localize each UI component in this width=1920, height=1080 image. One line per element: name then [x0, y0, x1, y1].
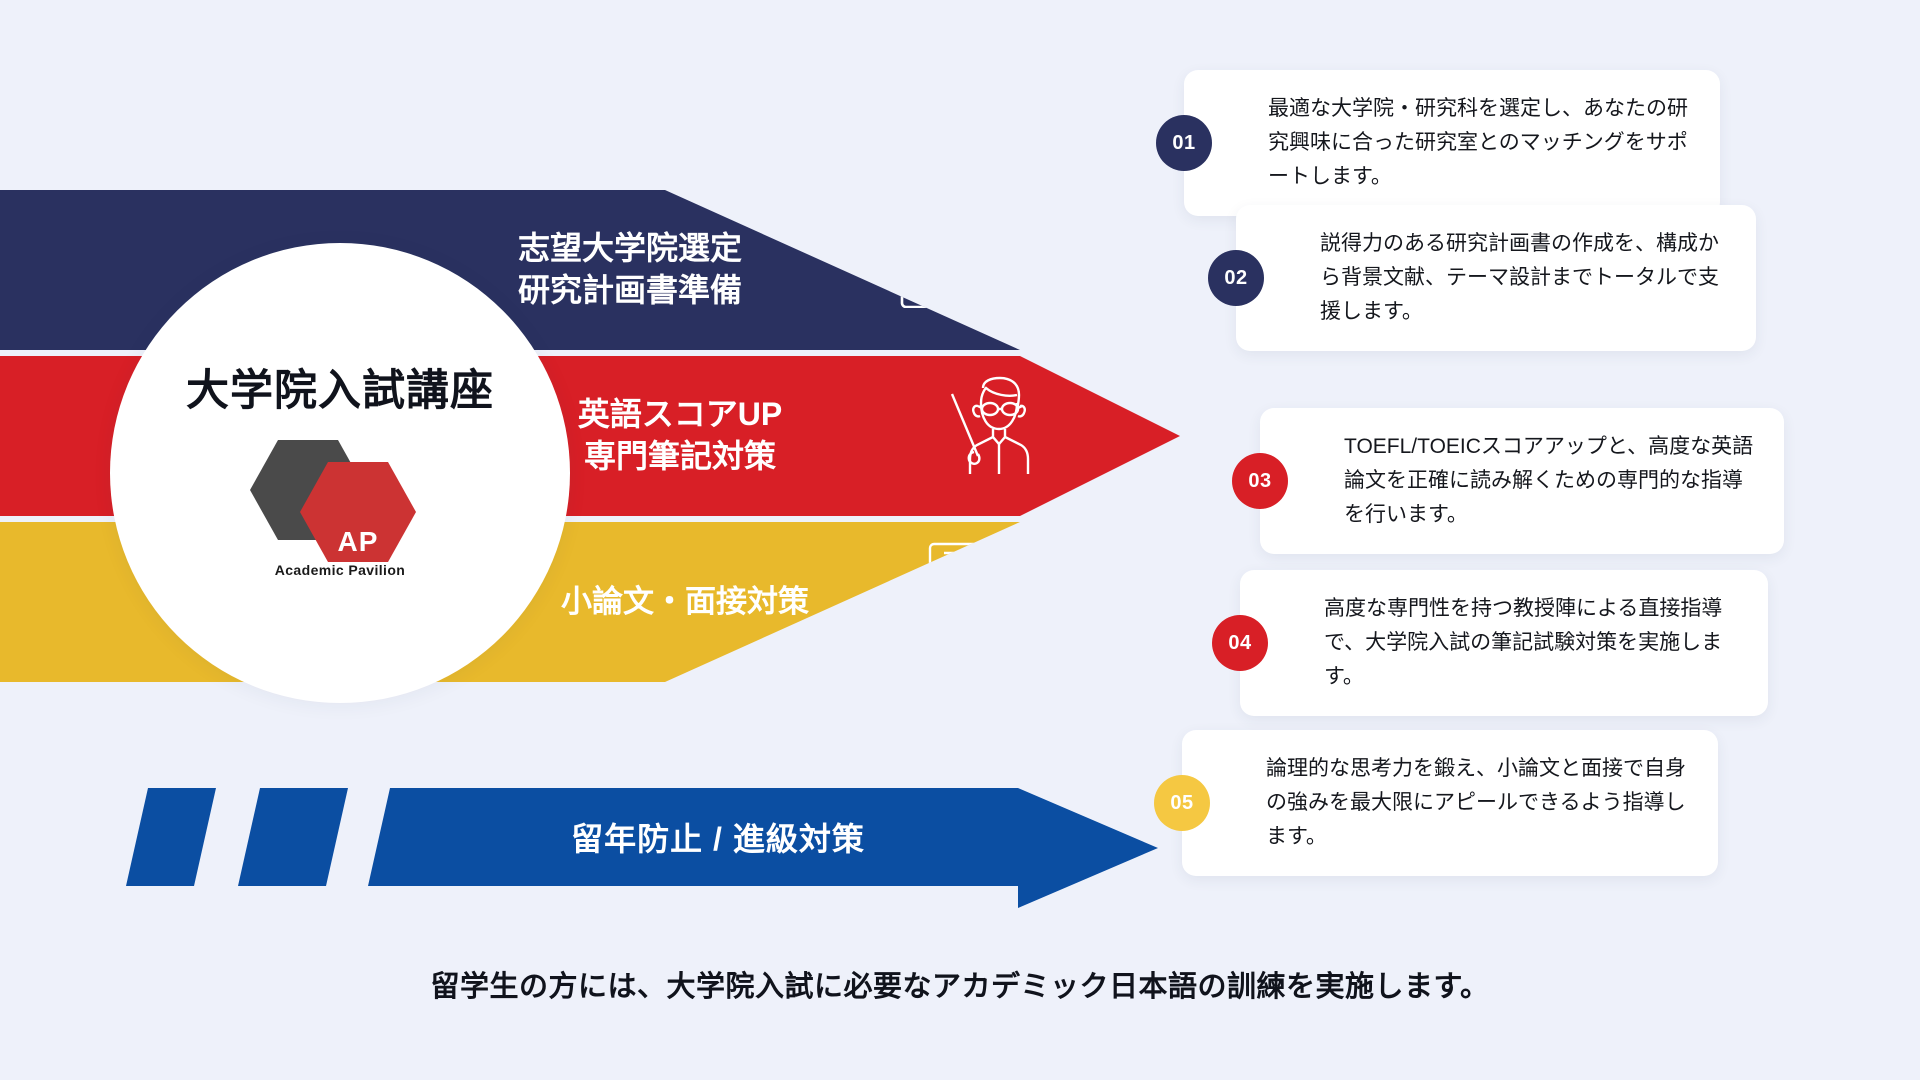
step-badge-02: 02 [1208, 250, 1264, 306]
course-logo-circle: 大学院入試講座 AP Academic Pavilion [110, 243, 570, 703]
step-badge-01: 01 [1156, 115, 1212, 171]
step-text-02: 説得力のある研究計画書の作成を、構成から背景文献、テーマ設計までトータルで支援し… [1236, 205, 1756, 351]
chevron-segment-1 [126, 788, 216, 886]
step-text-03: TOEFL/TOEICスコアアップと、高度な英語論文を正確に読み解くための専門的… [1260, 408, 1784, 554]
band-label-1: 志望大学院選定 研究計画書準備 [460, 228, 800, 311]
logo-subtitle: Academic Pavilion [275, 562, 406, 578]
academic-pavilion-logo: AP [235, 438, 445, 558]
step-card-05[interactable]: 05 論理的な思考力を鍛え、小論文と面接で自身の強みを最大限にアピールできるよう… [1182, 730, 1718, 876]
step-card-01[interactable]: 01 最適な大学院・研究科を選定し、あなたの研究興味に合った研究室とのマッチング… [1184, 70, 1720, 216]
step-text-01: 最適な大学院・研究科を選定し、あなたの研究興味に合った研究室とのマッチングをサポ… [1184, 70, 1720, 216]
blue-arrow-label: 留年防止 / 進級対策 [368, 788, 1068, 886]
step-text-04: 高度な専門性を持つ教授陣による直接指導で、大学院入試の筆記試験対策を実施します。 [1240, 570, 1768, 716]
document-check-pencil-icon [900, 212, 978, 313]
page-title: 大学院入試講座 [186, 356, 494, 418]
step-card-03[interactable]: 03 TOEFL/TOEICスコアアップと、高度な英語論文を正確に読み解くための… [1260, 408, 1784, 554]
teacher-pointer-icon [940, 376, 1046, 481]
step-badge-05: 05 [1154, 775, 1210, 831]
step-card-02[interactable]: 02 説得力のある研究計画書の作成を、構成から背景文献、テーマ設計までトータルで… [1236, 205, 1756, 351]
step-text-05: 論理的な思考力を鍛え、小論文と面接で自身の強みを最大限にアピールできるよう指導し… [1182, 730, 1718, 876]
step-badge-03: 03 [1232, 453, 1288, 509]
chevron-segment-2 [238, 788, 348, 886]
band-label-3: 小論文・面接対策 [520, 582, 850, 622]
logo-mark-text: AP [299, 460, 417, 564]
step-card-04[interactable]: 04 高度な専門性を持つ教授陣による直接指導で、大学院入試の筆記試験対策を実施し… [1240, 570, 1768, 716]
step-badge-04: 04 [1212, 615, 1268, 671]
step-cards: 01 最適な大学院・研究科を選定し、あなたの研究興味に合った研究室とのマッチング… [1140, 0, 1920, 1080]
interview-speech-icon [890, 540, 990, 643]
retention-prevention-arrow[interactable]: 留年防止 / 進級対策 [0, 788, 1200, 908]
